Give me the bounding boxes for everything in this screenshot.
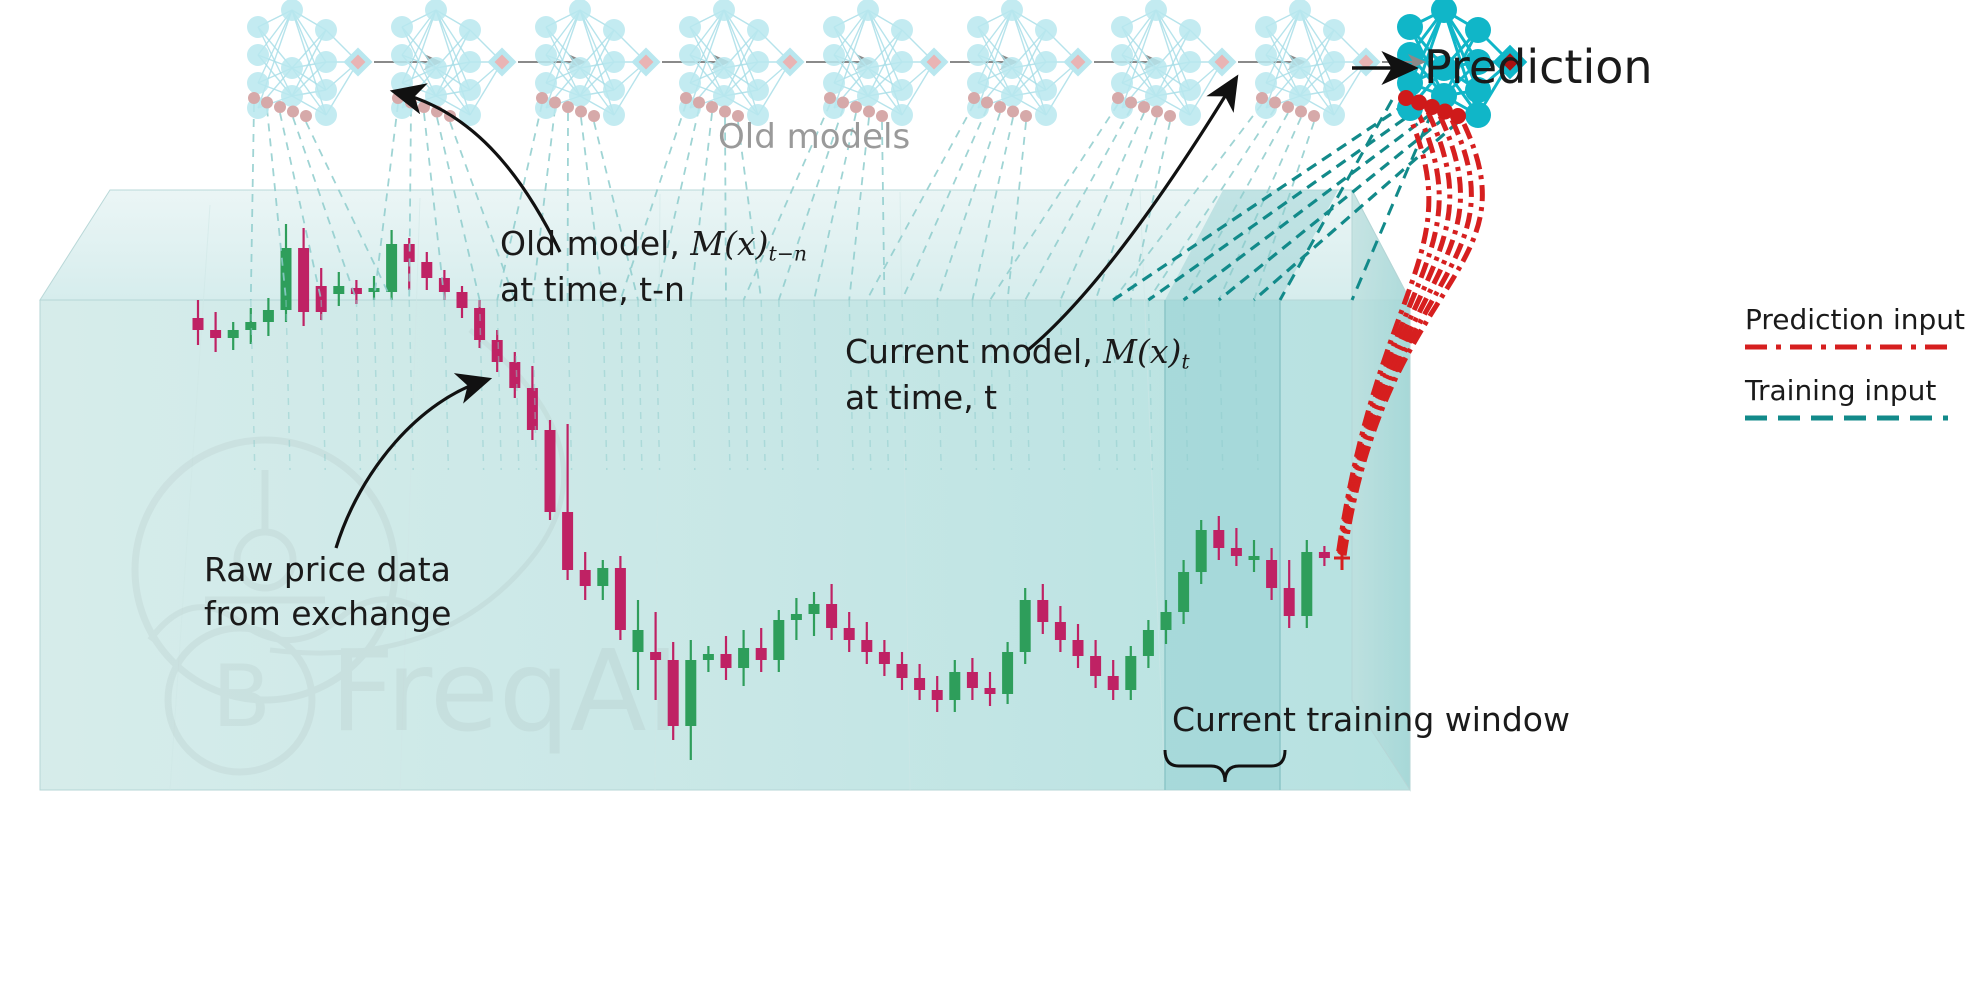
- candle-body: [210, 330, 221, 338]
- model-input-dot: [588, 110, 600, 122]
- model-input-dot: [1282, 101, 1294, 113]
- candle-body: [527, 388, 538, 430]
- model-input-dot: [981, 97, 993, 109]
- old-model-annotation: Old model, M(x)t−n at time, t-n: [500, 222, 807, 311]
- network-node: [459, 19, 481, 41]
- network-node: [1323, 51, 1345, 73]
- network-node: [1289, 57, 1311, 79]
- svg-text:B: B: [212, 647, 271, 747]
- network-node: [569, 0, 591, 21]
- network-node: [1431, 0, 1457, 23]
- model-input-dot: [1007, 106, 1019, 118]
- candle-body: [826, 604, 837, 628]
- model-input-dot: [850, 101, 862, 113]
- network-node: [823, 72, 845, 94]
- model-input-dot: [549, 97, 561, 109]
- network-node: [967, 72, 989, 94]
- network-node: [535, 44, 557, 66]
- model-input-dot: [824, 92, 836, 104]
- model-input-dot: [837, 97, 849, 109]
- network-node: [569, 57, 591, 79]
- model-input-dot: [680, 92, 692, 104]
- network-node: [679, 72, 701, 94]
- model-input-dot: [562, 101, 574, 113]
- network-node: [1035, 19, 1057, 41]
- network-node: [857, 0, 879, 21]
- candle-body: [703, 654, 714, 660]
- model-input-dot: [536, 92, 548, 104]
- network-node: [425, 0, 447, 21]
- candle-body: [809, 604, 820, 614]
- candle-body: [1090, 656, 1101, 676]
- model-input-dot: [1450, 108, 1466, 124]
- network-node: [1179, 79, 1201, 101]
- network-node: [747, 51, 769, 73]
- current-model-annotation-line2: at time, t: [845, 376, 1190, 420]
- candle-body: [1055, 622, 1066, 640]
- network-node: [1145, 0, 1167, 21]
- candle-body: [597, 568, 608, 586]
- candle-body: [316, 286, 327, 312]
- candle-body: [1037, 600, 1048, 622]
- legend-label-training-input: Training input: [1745, 374, 1936, 407]
- model-input-dot: [1256, 92, 1268, 104]
- model-input-dot: [1112, 92, 1124, 104]
- candle-body: [721, 654, 732, 668]
- candle-body: [1020, 600, 1031, 652]
- network-node: [1255, 72, 1277, 94]
- network-node: [1145, 57, 1167, 79]
- network-node: [1323, 19, 1345, 41]
- candle-body: [738, 648, 749, 668]
- network-node: [247, 44, 269, 66]
- candle-body: [1231, 548, 1242, 556]
- current-model-annotation: Current model, M(x)t at time, t: [845, 330, 1190, 419]
- model-input-dot: [1020, 110, 1032, 122]
- network-node: [891, 19, 913, 41]
- candle-body: [1213, 530, 1224, 548]
- network-node: [823, 16, 845, 38]
- candle-body: [457, 292, 468, 308]
- old-model-annotation-line2: at time, t-n: [500, 268, 807, 312]
- network-node: [1035, 79, 1057, 101]
- candle-body: [1143, 630, 1154, 656]
- candle-body: [897, 664, 908, 678]
- network-node: [1035, 51, 1057, 73]
- legend-label-prediction-input: Prediction input: [1745, 303, 1965, 336]
- raw-price-annotation-line2: from exchange: [204, 592, 451, 636]
- model-input-dot: [1151, 106, 1163, 118]
- network-node: [281, 0, 303, 21]
- network-node: [315, 19, 337, 41]
- candle-body: [298, 248, 309, 312]
- candle-body: [650, 652, 661, 660]
- network-node: [425, 57, 447, 79]
- network-node: [1255, 44, 1277, 66]
- network-node: [1289, 0, 1311, 21]
- network-node: [535, 72, 557, 94]
- old-models-label: Old models: [718, 117, 910, 157]
- model-input-dot: [1308, 110, 1320, 122]
- candle-body: [1319, 552, 1330, 558]
- model-input-dot: [968, 92, 980, 104]
- candle-body: [773, 620, 784, 660]
- candle-body: [685, 660, 696, 726]
- candle-body: [756, 648, 767, 660]
- candle-body: [668, 660, 679, 726]
- candle-body: [914, 678, 925, 690]
- network-node: [1111, 16, 1133, 38]
- network-node: [679, 44, 701, 66]
- network-node: [1397, 14, 1423, 40]
- network-node: [1397, 42, 1423, 68]
- candle-body: [1266, 560, 1277, 588]
- candle-body: [1178, 572, 1189, 612]
- network-node: [823, 44, 845, 66]
- candle-body: [1284, 588, 1295, 616]
- network-node: [857, 57, 879, 79]
- model-input-dot: [1295, 106, 1307, 118]
- network-node: [391, 16, 413, 38]
- network-node: [713, 0, 735, 21]
- candle-body: [1125, 656, 1136, 690]
- model-input-dot: [274, 101, 286, 113]
- candle-body: [791, 614, 802, 620]
- candle-body: [193, 318, 204, 330]
- candle-body: [492, 340, 503, 362]
- model-input-dot: [994, 101, 1006, 113]
- prediction-label: Prediction: [1424, 40, 1653, 94]
- network-node: [891, 51, 913, 73]
- model-input-dot: [248, 92, 260, 104]
- network-node: [281, 57, 303, 79]
- candle-body: [1108, 676, 1119, 690]
- candle-body: [844, 628, 855, 640]
- candle-body: [580, 570, 591, 586]
- network-node: [1001, 0, 1023, 21]
- network-node: [535, 16, 557, 38]
- network-node: [713, 57, 735, 79]
- model-input-dot: [719, 106, 731, 118]
- network-node: [247, 72, 269, 94]
- network-node: [967, 16, 989, 38]
- candle-body: [1196, 530, 1207, 572]
- candle-body: [263, 310, 274, 322]
- candle-body: [509, 362, 520, 388]
- network-node: [1465, 102, 1491, 128]
- raw-price-annotation-line1: Raw price data: [204, 548, 451, 592]
- network-node: [1323, 79, 1345, 101]
- network-node: [603, 104, 625, 126]
- network-node: [1111, 72, 1133, 94]
- candle-body: [439, 278, 450, 292]
- model-input-dot: [693, 97, 705, 109]
- network-node: [1323, 104, 1345, 126]
- model-input-dot: [1164, 110, 1176, 122]
- candle-body: [1301, 552, 1312, 616]
- network-node: [603, 19, 625, 41]
- network-node: [1035, 104, 1057, 126]
- candle-body: [967, 672, 978, 688]
- model-input-dot: [1269, 97, 1281, 109]
- network-node: [315, 104, 337, 126]
- candle-body: [615, 568, 626, 630]
- network-node: [391, 72, 413, 94]
- candle-body: [932, 690, 943, 700]
- network-node: [1111, 44, 1133, 66]
- network-node: [315, 51, 337, 73]
- candle-body: [1249, 556, 1260, 560]
- model-input-dot: [1125, 97, 1137, 109]
- old-model-annotation-line1: Old model, M(x)t−n: [500, 222, 807, 268]
- candle-body: [333, 286, 344, 294]
- candle-body: [1002, 652, 1013, 694]
- candle-body: [562, 512, 573, 570]
- candle-body: [386, 244, 397, 292]
- network-node: [891, 79, 913, 101]
- network-node: [247, 16, 269, 38]
- candle-body: [949, 672, 960, 700]
- model-input-dot: [300, 110, 312, 122]
- current-model-annotation-line1: Current model, M(x)t: [845, 330, 1190, 376]
- network-node: [747, 19, 769, 41]
- network-node: [1179, 104, 1201, 126]
- model-input-dot: [863, 106, 875, 118]
- network-node: [747, 79, 769, 101]
- model-input-dot: [287, 106, 299, 118]
- raw-price-annotation: Raw price data from exchange: [204, 548, 451, 635]
- candle-body: [985, 688, 996, 694]
- model-input-dot: [1138, 101, 1150, 113]
- candle-body: [1073, 640, 1084, 656]
- model-input-dot: [261, 97, 273, 109]
- candle-body: [633, 630, 644, 652]
- candle-body: [1161, 612, 1172, 630]
- candle-body: [474, 308, 485, 340]
- network-node: [315, 79, 337, 101]
- training-window-label: Current training window: [1172, 700, 1570, 739]
- candle-body: [879, 652, 890, 664]
- model-input-dot: [706, 101, 718, 113]
- candle-body: [228, 330, 239, 338]
- network-node: [1179, 51, 1201, 73]
- candle-body: [369, 288, 380, 292]
- network-node: [391, 44, 413, 66]
- diagram-svg: B FreqAI: [0, 0, 1966, 981]
- network-node: [1179, 19, 1201, 41]
- network-node: [459, 51, 481, 73]
- candle-body: [545, 430, 556, 512]
- network-node: [1255, 16, 1277, 38]
- network-node: [967, 44, 989, 66]
- candle-body: [861, 640, 872, 652]
- candle-body: [421, 262, 432, 278]
- model-input-dot: [575, 106, 587, 118]
- network-node: [1001, 57, 1023, 79]
- network-node: [459, 79, 481, 101]
- diagram-canvas: B FreqAI Old models Prediction Old model…: [0, 0, 1966, 981]
- network-node: [603, 51, 625, 73]
- network-node: [603, 79, 625, 101]
- network-node: [679, 16, 701, 38]
